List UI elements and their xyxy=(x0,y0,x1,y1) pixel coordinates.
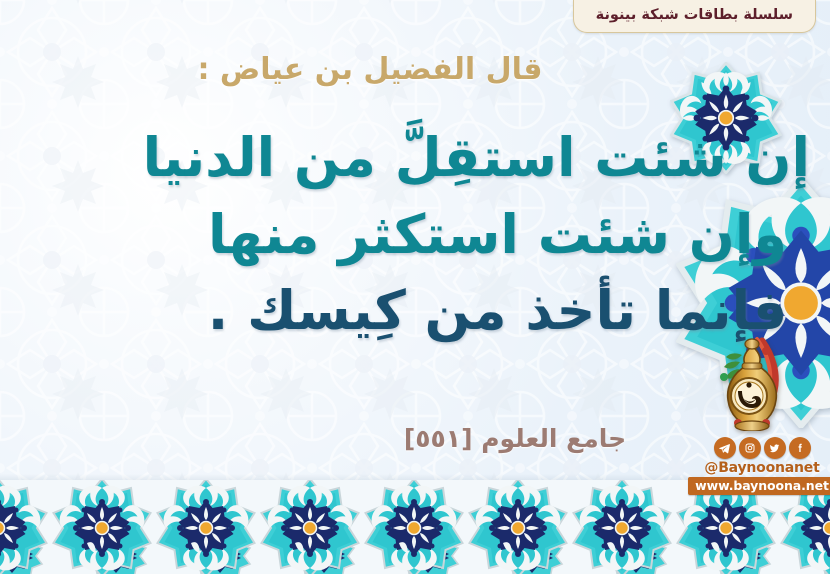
attribution-line: قال الفضيل بن عياض : xyxy=(0,52,830,87)
website-url[interactable]: www.baynoona.net xyxy=(688,477,830,495)
series-banner-tab: سلسلة بطاقات شبكة بينونة xyxy=(573,0,816,33)
baynoona-lamp-logo-icon xyxy=(716,333,790,431)
series-banner-label: سلسلة بطاقات شبكة بينونة xyxy=(596,7,793,23)
quote-card: سلسلة بطاقات شبكة بينونة xyxy=(0,0,830,574)
quote-line-1: إن شئت استقِلَّ من الدنيا xyxy=(185,120,810,197)
telegram-icon[interactable] xyxy=(714,437,736,459)
twitter-icon[interactable] xyxy=(764,437,786,459)
social-handle[interactable]: @Baynoonanet xyxy=(704,461,819,476)
facebook-icon[interactable] xyxy=(789,437,811,459)
social-icon-row xyxy=(714,437,811,459)
quote-block: إن شئت استقِلَّ من الدنيا وإن شئت استكثر… xyxy=(0,120,830,350)
social-links-block: @Baynoonanet www.baynoona.net xyxy=(703,437,821,495)
quote-line-2: وإن شئت استكثر منها xyxy=(185,197,810,274)
instagram-icon[interactable] xyxy=(739,437,761,459)
